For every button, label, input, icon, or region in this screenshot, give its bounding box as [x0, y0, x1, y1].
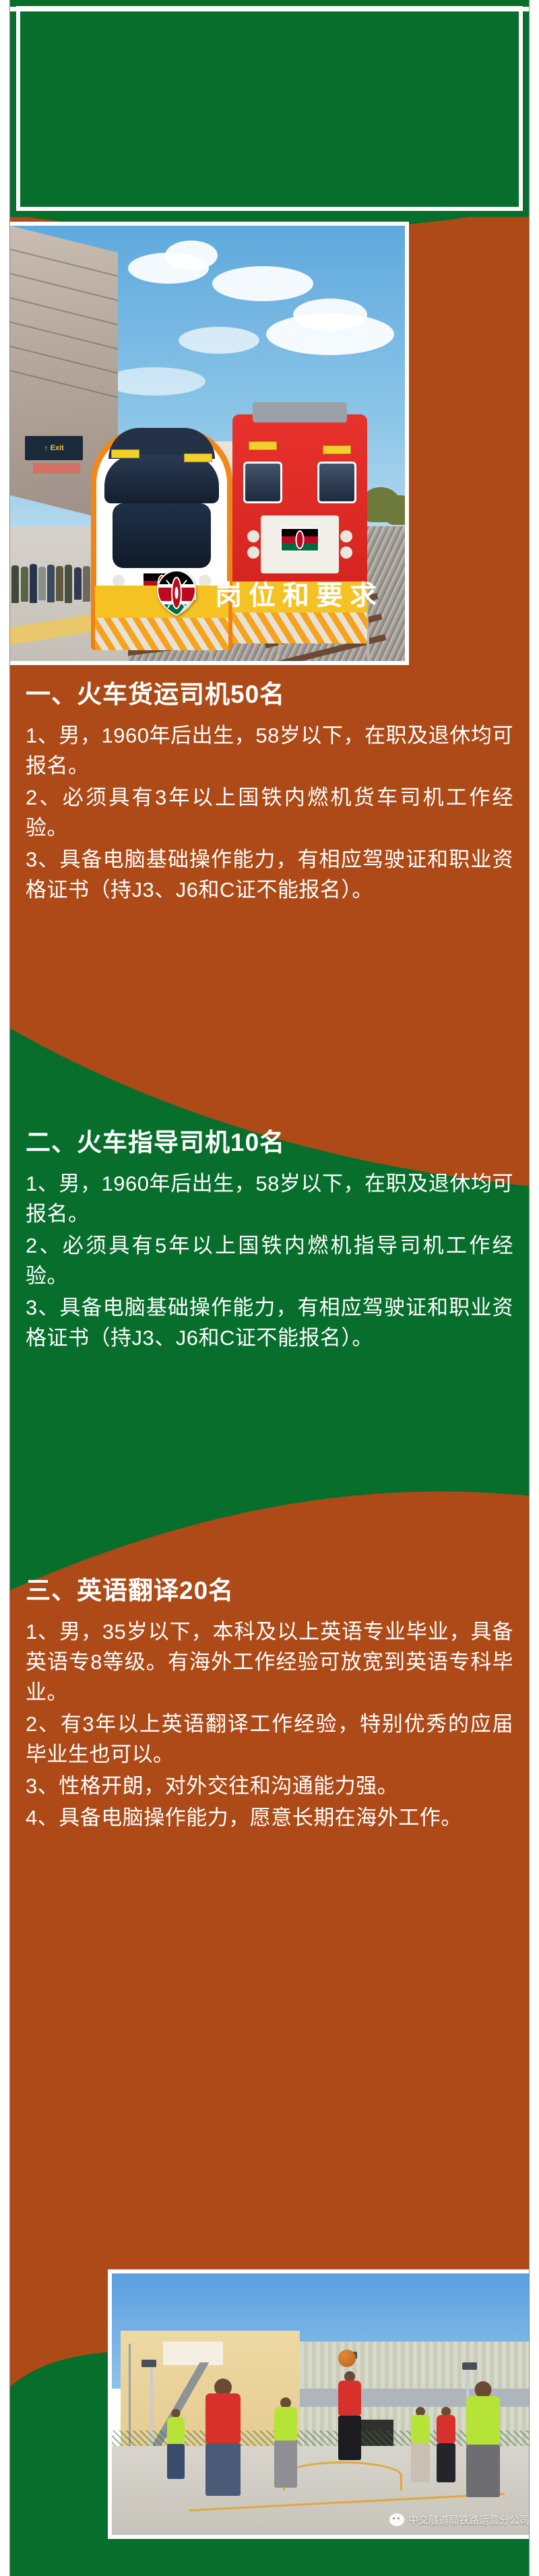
- section-heading-label: 岗位和要求: [215, 573, 383, 612]
- cloud-shape: [179, 327, 259, 354]
- job-section-freight-driver: 一、火车货运司机50名 1、男，1960年后出生，58岁以下，在职及退休均可报名…: [26, 674, 513, 907]
- player-green-vest: [274, 2407, 297, 2488]
- cloud-shape: [104, 367, 205, 396]
- cloud-shape: [212, 266, 313, 301]
- up-arrow-icon: ↑: [44, 444, 49, 452]
- cloud-shape: [165, 241, 218, 270]
- section-title: 一、火车货运司机50名: [26, 674, 513, 710]
- kenya-flag-icon: [280, 528, 319, 552]
- right-edge-fill: [535, 0, 539, 2576]
- player-background-green: [411, 2415, 430, 2482]
- basketball-photo: 中交隧道局铁路运营分公司: [108, 2269, 539, 2539]
- right-hairline: [529, 0, 530, 2576]
- player-jumping: [338, 2381, 361, 2460]
- welcome-banner: [33, 463, 80, 474]
- requirement-item: 3、性格开朗，对外交往和沟通能力强。: [26, 1771, 513, 1802]
- section-title: 二、火车指导司机10名: [26, 1122, 513, 1158]
- header-top-rule: [10, 7, 529, 11]
- lamp-head-icon: [462, 2362, 477, 2370]
- locomotive-passenger: [91, 428, 232, 650]
- cloud-shape: [293, 299, 367, 331]
- left-hairline: [9, 0, 10, 2576]
- requirement-item: 2、必须具有5年以上国铁内燃机指导司机工作经验。: [26, 1231, 513, 1292]
- player-background-red: [437, 2415, 455, 2482]
- job-section-english-translator: 三、英语翻译20名 1、男，35岁以下，本科及以上英语专业毕业，具备英语专8等级…: [26, 1570, 513, 1835]
- wechat-icon: [389, 2513, 404, 2526]
- left-edge-fill: [0, 0, 4, 2576]
- requirement-item: 1、男，1960年后出生，58岁以下，在职及退休均可报名。: [26, 721, 513, 782]
- recruitment-poster: 蒙内铁路急招火车司机 即将增开14对货运、2对客运: [0, 0, 539, 2576]
- requirement-item: 1、男，35岁以下，本科及以上英语专业毕业，具备英语专8等级。有海外工作经验可放…: [26, 1617, 513, 1708]
- exit-sign-label: Exit: [51, 444, 64, 452]
- requirement-item: 3、具备电脑基础操作能力，有相应驾驶证和职业资格证书（持J3、J6和C证不能报名…: [26, 1293, 513, 1354]
- requirement-item: 2、有3年以上英语翻译工作经验，特别优秀的应届毕业生也可以。: [26, 1709, 513, 1770]
- player-red-vest-back: [205, 2393, 241, 2496]
- player-background-left: [167, 2417, 185, 2479]
- watermark-label: 中交隧道局铁路运营分公司: [408, 2513, 530, 2527]
- job-section-instructor-driver: 二、火车指导司机10名 1、男，1960年后出生，58岁以下，在职及退休均可报名…: [26, 1122, 513, 1355]
- watermark: 中交隧道局铁路运营分公司: [389, 2513, 530, 2527]
- warehouse-band: [300, 2389, 539, 2407]
- requirement-item: 4、具备电脑操作能力，愿意长期在海外工作。: [26, 1803, 513, 1833]
- exit-sign: ↑ Exit: [25, 436, 83, 460]
- player-green-vest-right: [466, 2396, 500, 2497]
- left-white-gutter: [4, 0, 9, 2576]
- section-heading: 岗位和要求: [0, 570, 539, 616]
- requirement-item: 2、必须具有3年以上国铁内燃机货车司机工作经验。: [26, 783, 513, 844]
- requirement-item: 3、具备电脑基础操作能力，有相应驾驶证和职业资格证书（持J3、J6和C证不能报名…: [26, 845, 513, 906]
- header-frame-border: [16, 6, 523, 211]
- lamp-head-icon: [141, 2360, 156, 2367]
- section-title: 三、英语翻译20名: [26, 1570, 513, 1606]
- right-white-gutter: [530, 0, 535, 2576]
- requirement-item: 1、男，1960年后出生，58岁以下，在职及退休均可报名。: [26, 1169, 513, 1230]
- basketball-icon: [338, 2350, 356, 2367]
- kenya-flag-badge-icon: [156, 570, 197, 616]
- poster-header: [10, 0, 529, 217]
